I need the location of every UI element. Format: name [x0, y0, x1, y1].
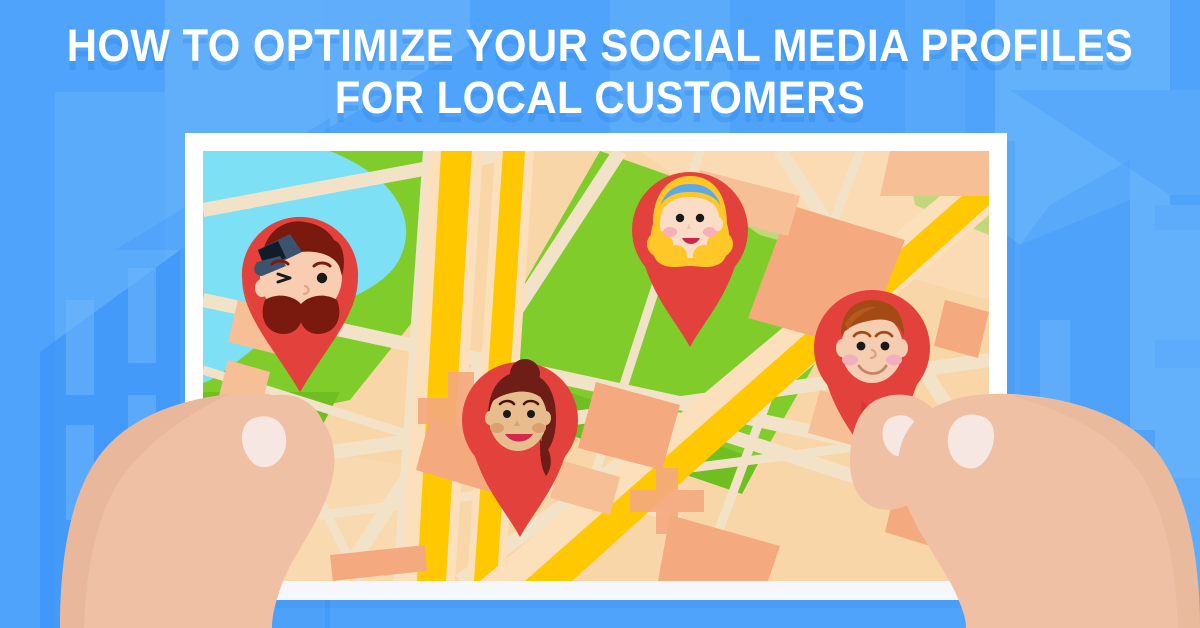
eye-right — [527, 410, 535, 418]
eye-left — [503, 410, 511, 418]
cheek-left — [663, 227, 677, 237]
eye-right — [317, 273, 327, 283]
cheek-left — [490, 423, 504, 433]
eye-right — [881, 342, 890, 351]
eye-left — [857, 342, 866, 351]
cheek-right — [532, 423, 546, 433]
tablet-with-map — [0, 0, 1200, 628]
eye-left — [676, 214, 684, 222]
map-screen — [203, 151, 989, 581]
poster-canvas: HOW TO OPTIMIZE YOUR SOCIAL MEDIA PROFIL… — [0, 0, 1200, 628]
eye-right — [696, 214, 704, 222]
